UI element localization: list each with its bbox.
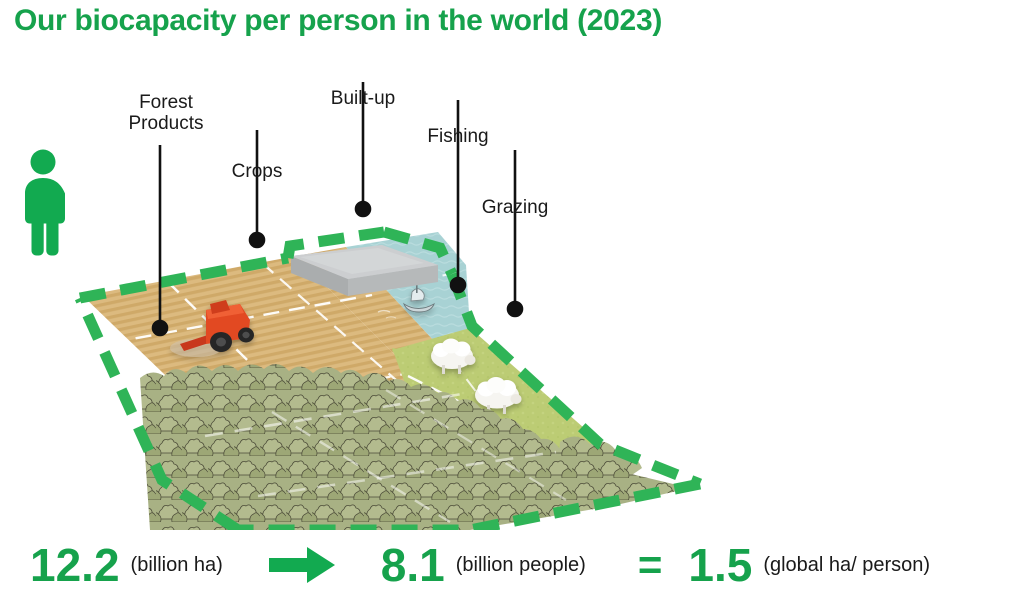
leader-dot-builtup bbox=[356, 202, 370, 216]
callout-builtup-line1: Built-up bbox=[318, 88, 408, 109]
callout-label-forest: Forest Products bbox=[121, 92, 211, 135]
biocapacity-value: 12.2 bbox=[30, 542, 120, 588]
callout-crops-line1: Crops bbox=[222, 161, 292, 182]
equals-sign: = bbox=[638, 544, 663, 586]
population-unit: (billion people) bbox=[456, 554, 586, 577]
result-value: 1.5 bbox=[688, 542, 752, 588]
callout-grazing-line1: Grazing bbox=[470, 197, 560, 218]
leader-dot-fishing bbox=[451, 278, 465, 292]
callout-forest-line2: Products bbox=[121, 113, 211, 134]
biocapacity-unit: (billion ha) bbox=[131, 554, 223, 577]
callout-label-grazing: Grazing bbox=[470, 197, 560, 218]
leader-dot-crops bbox=[250, 233, 264, 247]
biocapacity-equation: 12.2 (billion ha) 8.1 (billion people) =… bbox=[0, 532, 1024, 598]
land-plot-base bbox=[80, 198, 718, 530]
callout-forest-line1: Forest bbox=[121, 92, 211, 113]
result-unit: (global ha/ person) bbox=[763, 554, 930, 577]
callout-fishing-line1: Fishing bbox=[415, 126, 501, 147]
callout-label-crops: Crops bbox=[222, 161, 292, 182]
callout-label-fishing: Fishing bbox=[415, 126, 501, 147]
right-arrow-icon bbox=[267, 545, 337, 585]
leader-dot-forest bbox=[153, 321, 167, 335]
leader-dot-grazing bbox=[508, 302, 522, 316]
callout-label-builtup: Built-up bbox=[318, 88, 408, 109]
page-title: Our biocapacity per person in the world … bbox=[14, 4, 662, 38]
population-value: 8.1 bbox=[381, 542, 445, 588]
